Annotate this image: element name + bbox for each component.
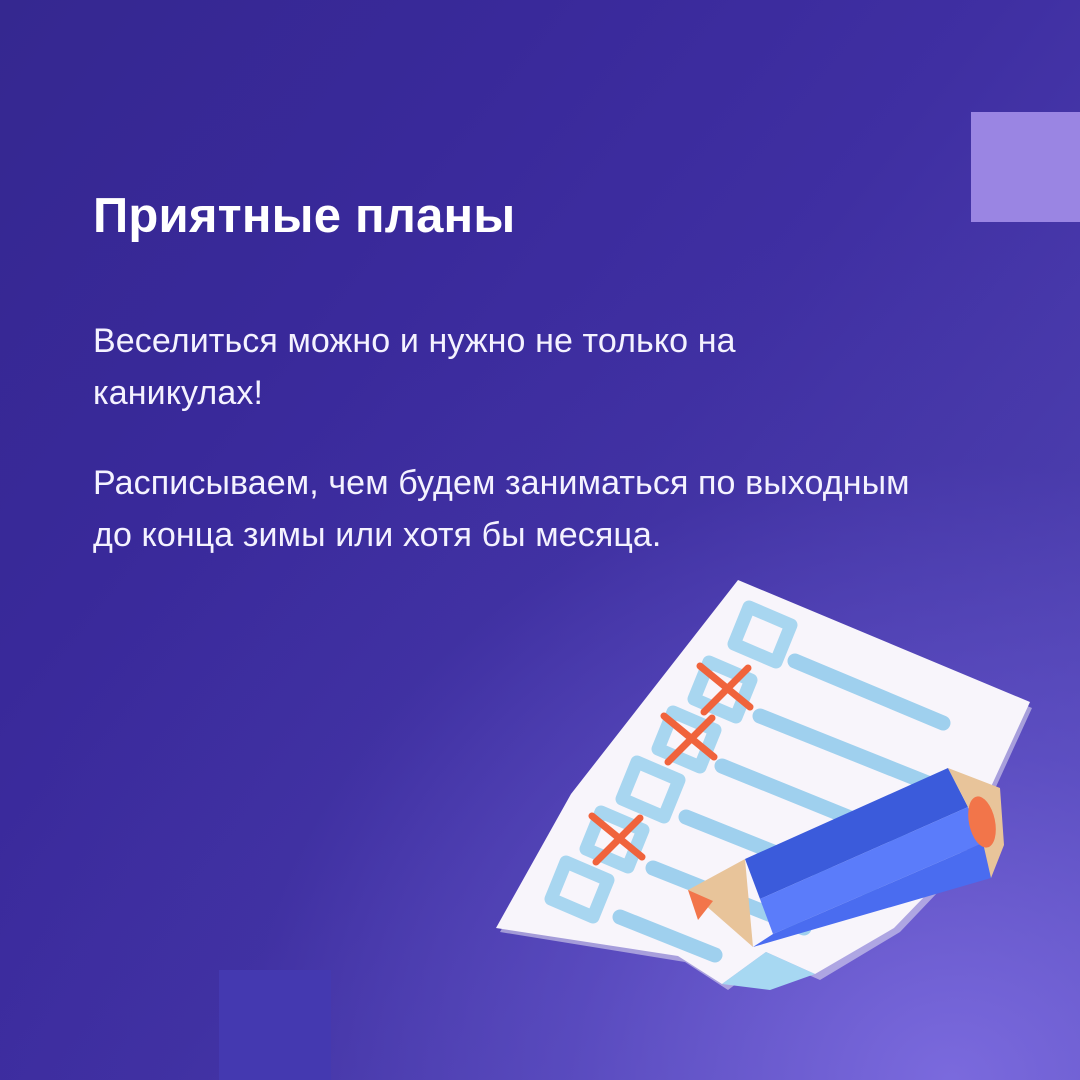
text-content-block: Приятные планы Веселиться можно и нужно … (93, 186, 913, 561)
body-paragraph-1: Веселиться можно и нужно не только на ка… (93, 315, 913, 419)
body-paragraph-2: Расписываем, чем будем заниматься по вых… (93, 457, 913, 561)
decor-square-bottom-left (219, 970, 331, 1080)
page-title: Приятные планы (93, 186, 913, 246)
decor-square-top-right (971, 112, 1080, 222)
slide-canvas: Приятные планы Веселиться можно и нужно … (0, 0, 1080, 1080)
checklist-illustration (470, 560, 1080, 1080)
